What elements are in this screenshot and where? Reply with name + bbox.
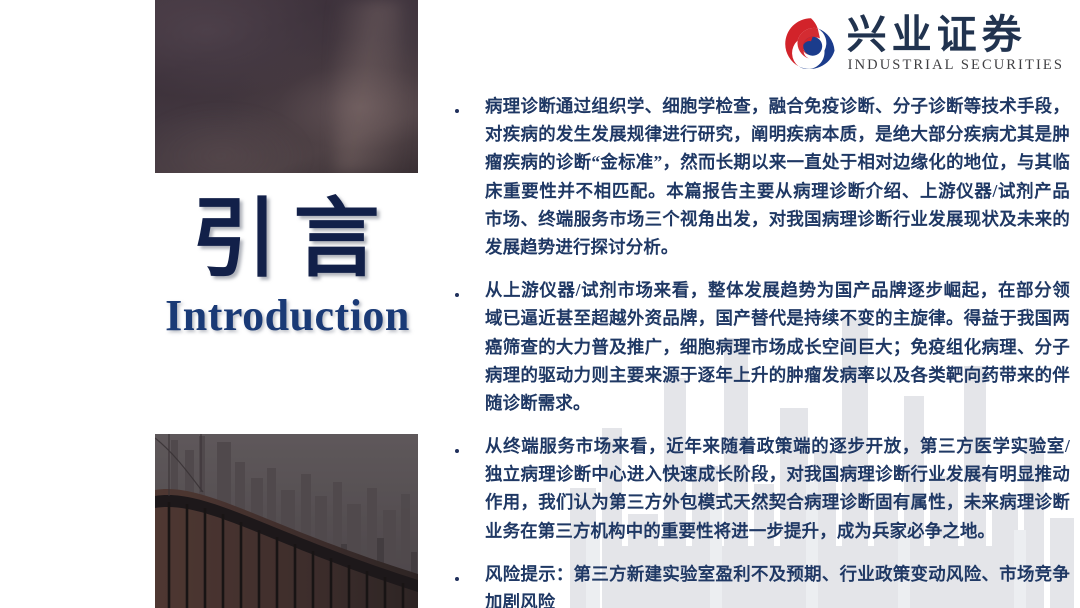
list-item: 风险提示：第三方新建实验室盈利不及预期、行业政策变动风险、市场竞争加剧风险 (455, 560, 1070, 608)
xingye-swirl-logo-icon (783, 16, 839, 72)
bullet-text-risk-warning: 风险提示：第三方新建实验室盈利不及预期、行业政策变动风险、市场竞争加剧风险 (485, 560, 1070, 608)
bullet-text-intro-overview: 病理诊断通过组织学、细胞学检查，融合免疫诊断、分子诊断等技术手段，对疾病的发生发… (485, 92, 1070, 261)
logo-company-en: INDUSTRIAL SECURITIES (848, 57, 1064, 74)
bullet-dot-icon (455, 276, 485, 299)
bullet-dot-icon (455, 92, 485, 115)
body-bullet-list: 病理诊断通过组织学、细胞学检查，融合免疫诊断、分子诊断等技术手段，对疾病的发生发… (455, 92, 1070, 608)
photo-bottom-cityscape (155, 434, 418, 608)
list-item: 从终端服务市场来看，近年来随着政策端的逐步开放，第三方医学实验室/独立病理诊断中… (455, 432, 1070, 545)
logo-wordmark: 兴业证券 INDUSTRIAL SECURITIES (847, 14, 1064, 74)
section-title-block: 引言 Introduction (150, 196, 425, 341)
list-item: 从上游仪器/试剂市场来看，整体发展趋势为国产品牌逐步崛起，在部分领域已逼近甚至超… (455, 276, 1070, 417)
bullet-dot-icon (455, 560, 485, 583)
bullet-dot-icon (455, 432, 485, 455)
company-logo: 兴业证券 INDUSTRIAL SECURITIES (783, 14, 1064, 74)
page-title-cn: 引言 (162, 196, 425, 284)
bullet-text-terminal-service-market: 从终端服务市场来看，近年来随着政策端的逐步开放，第三方医学实验室/独立病理诊断中… (485, 432, 1070, 545)
photo-top-dark (155, 0, 418, 173)
page-title-en: Introduction (150, 290, 425, 341)
list-item: 病理诊断通过组织学、细胞学检查，融合免疫诊断、分子诊断等技术手段，对疾病的发生发… (455, 92, 1070, 261)
slide-root: 引言 Introduction 兴业证券 INDUSTRIAL SECURITI… (0, 0, 1080, 608)
logo-company-cn: 兴业证券 (847, 14, 1064, 56)
bullet-text-upstream-market: 从上游仪器/试剂市场来看，整体发展趋势为国产品牌逐步崛起，在部分领域已逼近甚至超… (485, 276, 1070, 417)
